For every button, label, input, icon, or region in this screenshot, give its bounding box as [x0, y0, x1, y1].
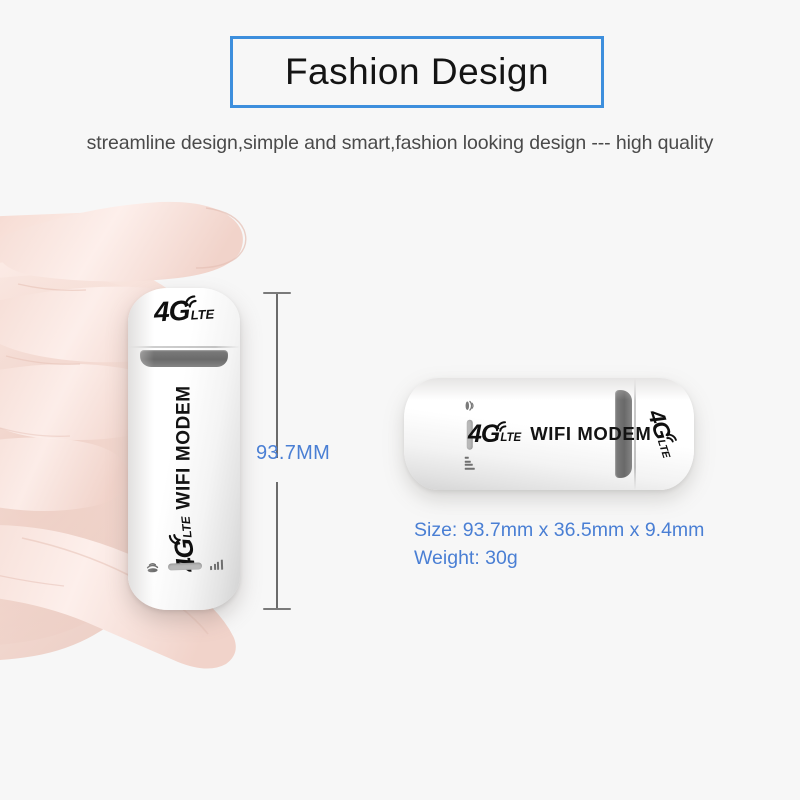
- cap-seam: [128, 346, 240, 348]
- device-body-text-horizontal: 4G LTE WIFI MODEM: [468, 423, 651, 446]
- dimension-cap-bottom: [263, 608, 291, 610]
- wifi-broadcast-icon: [465, 399, 476, 413]
- usb-modem-device-main: 4G LTE 4G LTE WIFI MODEM: [128, 288, 240, 610]
- spec-text-block: Size: 93.7mm x 36.5mm x 9.4mm Weight: 30…: [414, 516, 704, 572]
- logo-lte-text: LTE: [500, 433, 521, 445]
- usb-modem-device-secondary: 4G LTE WIFI MODEM 4G LTE: [404, 378, 694, 490]
- 4g-lte-logo: 4G LTE: [645, 407, 680, 460]
- title-box: Fashion Design: [230, 36, 604, 108]
- signal-arc-icon: [166, 527, 182, 547]
- brand-logo-top: 4G LTE: [128, 295, 240, 326]
- signal-arc-icon: [182, 292, 203, 308]
- device-model-text: WIFI MODEM: [530, 423, 651, 445]
- signal-bars-icon: [210, 560, 223, 570]
- signal-arc-icon: [494, 419, 512, 432]
- usb-cap-slot: [140, 350, 228, 367]
- 4g-lte-logo-body: 4G LTE: [468, 423, 521, 446]
- subtitle-text: streamline design,simple and smart,fashi…: [0, 132, 800, 155]
- dimension-annotation: 93.7MM: [258, 292, 346, 612]
- page-title: Fashion Design: [285, 51, 549, 93]
- dimension-label: 93.7MM: [256, 442, 330, 465]
- product-marketing-image: Fashion Design streamline design,simple …: [0, 0, 800, 800]
- led-slot-icon: [168, 562, 202, 570]
- spec-size: Size: 93.7mm x 36.5mm x 9.4mm: [414, 516, 704, 544]
- logo-lte-text: LTE: [180, 516, 194, 539]
- brand-logo-cap: 4G LTE: [643, 407, 680, 460]
- signal-bars-icon: [465, 457, 475, 470]
- wifi-broadcast-icon: [145, 561, 160, 574]
- spec-weight: Weight: 30g: [414, 544, 704, 572]
- dimension-line-lower: [276, 482, 278, 610]
- device-model-text: WIFI MODEM: [173, 386, 195, 510]
- dimension-line-upper: [276, 294, 278, 458]
- device-body-text-vertical: 4G LTE WIFI MODEM: [128, 384, 240, 574]
- 4g-lte-logo: 4G LTE: [153, 296, 214, 324]
- logo-lte-text: LTE: [190, 308, 214, 322]
